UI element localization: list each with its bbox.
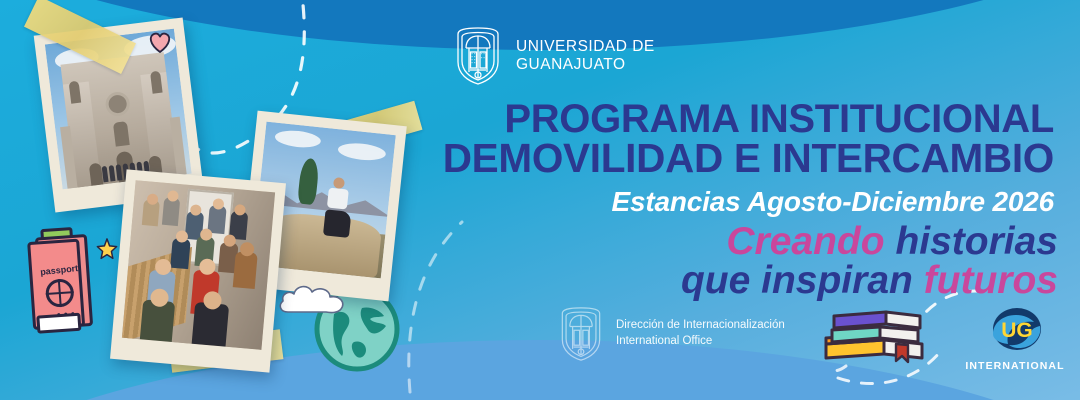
- page-title: PROGRAMA INSTITUCIONAL DEMOVILIDAD E INT…: [430, 100, 1070, 179]
- passport-icon: passport: [24, 226, 95, 338]
- cloud-icon: [276, 278, 352, 318]
- title-line-2: DEMOVILIDAD E INTERCAMBIO: [430, 139, 1054, 179]
- tagline-word-historias: historias: [895, 220, 1058, 263]
- tagline-word-futuros: futuros: [924, 259, 1058, 302]
- university-header: UNIVERSIDAD DE GUANAJUATO: [452, 26, 655, 86]
- international-office-block: Dirección de Internacionalización Intern…: [556, 306, 785, 362]
- group-stairs-photo: [110, 169, 286, 372]
- svg-text:UG: UG: [1001, 319, 1033, 342]
- university-name-line2: GUANAJUATO: [516, 56, 655, 74]
- ug-shield-icon: [452, 26, 504, 86]
- title-line-1: PROGRAMA INSTITUCIONAL: [430, 100, 1054, 139]
- ug-international-logo: UG INTERNATIONAL: [962, 306, 1068, 388]
- tagline-line-1: Creando historias: [430, 222, 1058, 261]
- group-stairs-photo-image: [122, 180, 275, 350]
- tagline-line-2: que inspiran futuros: [430, 261, 1058, 300]
- ug-shield-icon: [556, 306, 606, 362]
- promo-banner: passport: [0, 0, 1080, 400]
- star-sparkle-icon: [96, 238, 118, 260]
- tagline-word-creando: Creando: [726, 220, 884, 263]
- office-name-line1: Dirección de Internacionalización: [616, 318, 785, 334]
- university-name-line1: UNIVERSIDAD DE: [516, 38, 655, 56]
- books-stack-icon: [818, 304, 930, 366]
- office-name-line2: International Office: [616, 334, 785, 350]
- subtitle: Estancias Agosto-Diciembre 2026: [430, 186, 1070, 218]
- tagline: Creando historias que inspiran futuros: [430, 222, 1070, 300]
- office-name: Dirección de Internacionalización Intern…: [616, 318, 785, 349]
- university-name: UNIVERSIDAD DE GUANAJUATO: [516, 38, 655, 75]
- passport-label: passport: [40, 263, 83, 277]
- ug-international-label: INTERNATIONAL: [962, 360, 1068, 372]
- ug-international-mark: UG: [984, 306, 1046, 356]
- tagline-word-que-inspiran: que inspiran: [681, 259, 913, 302]
- heart-sticker-icon: [147, 30, 173, 54]
